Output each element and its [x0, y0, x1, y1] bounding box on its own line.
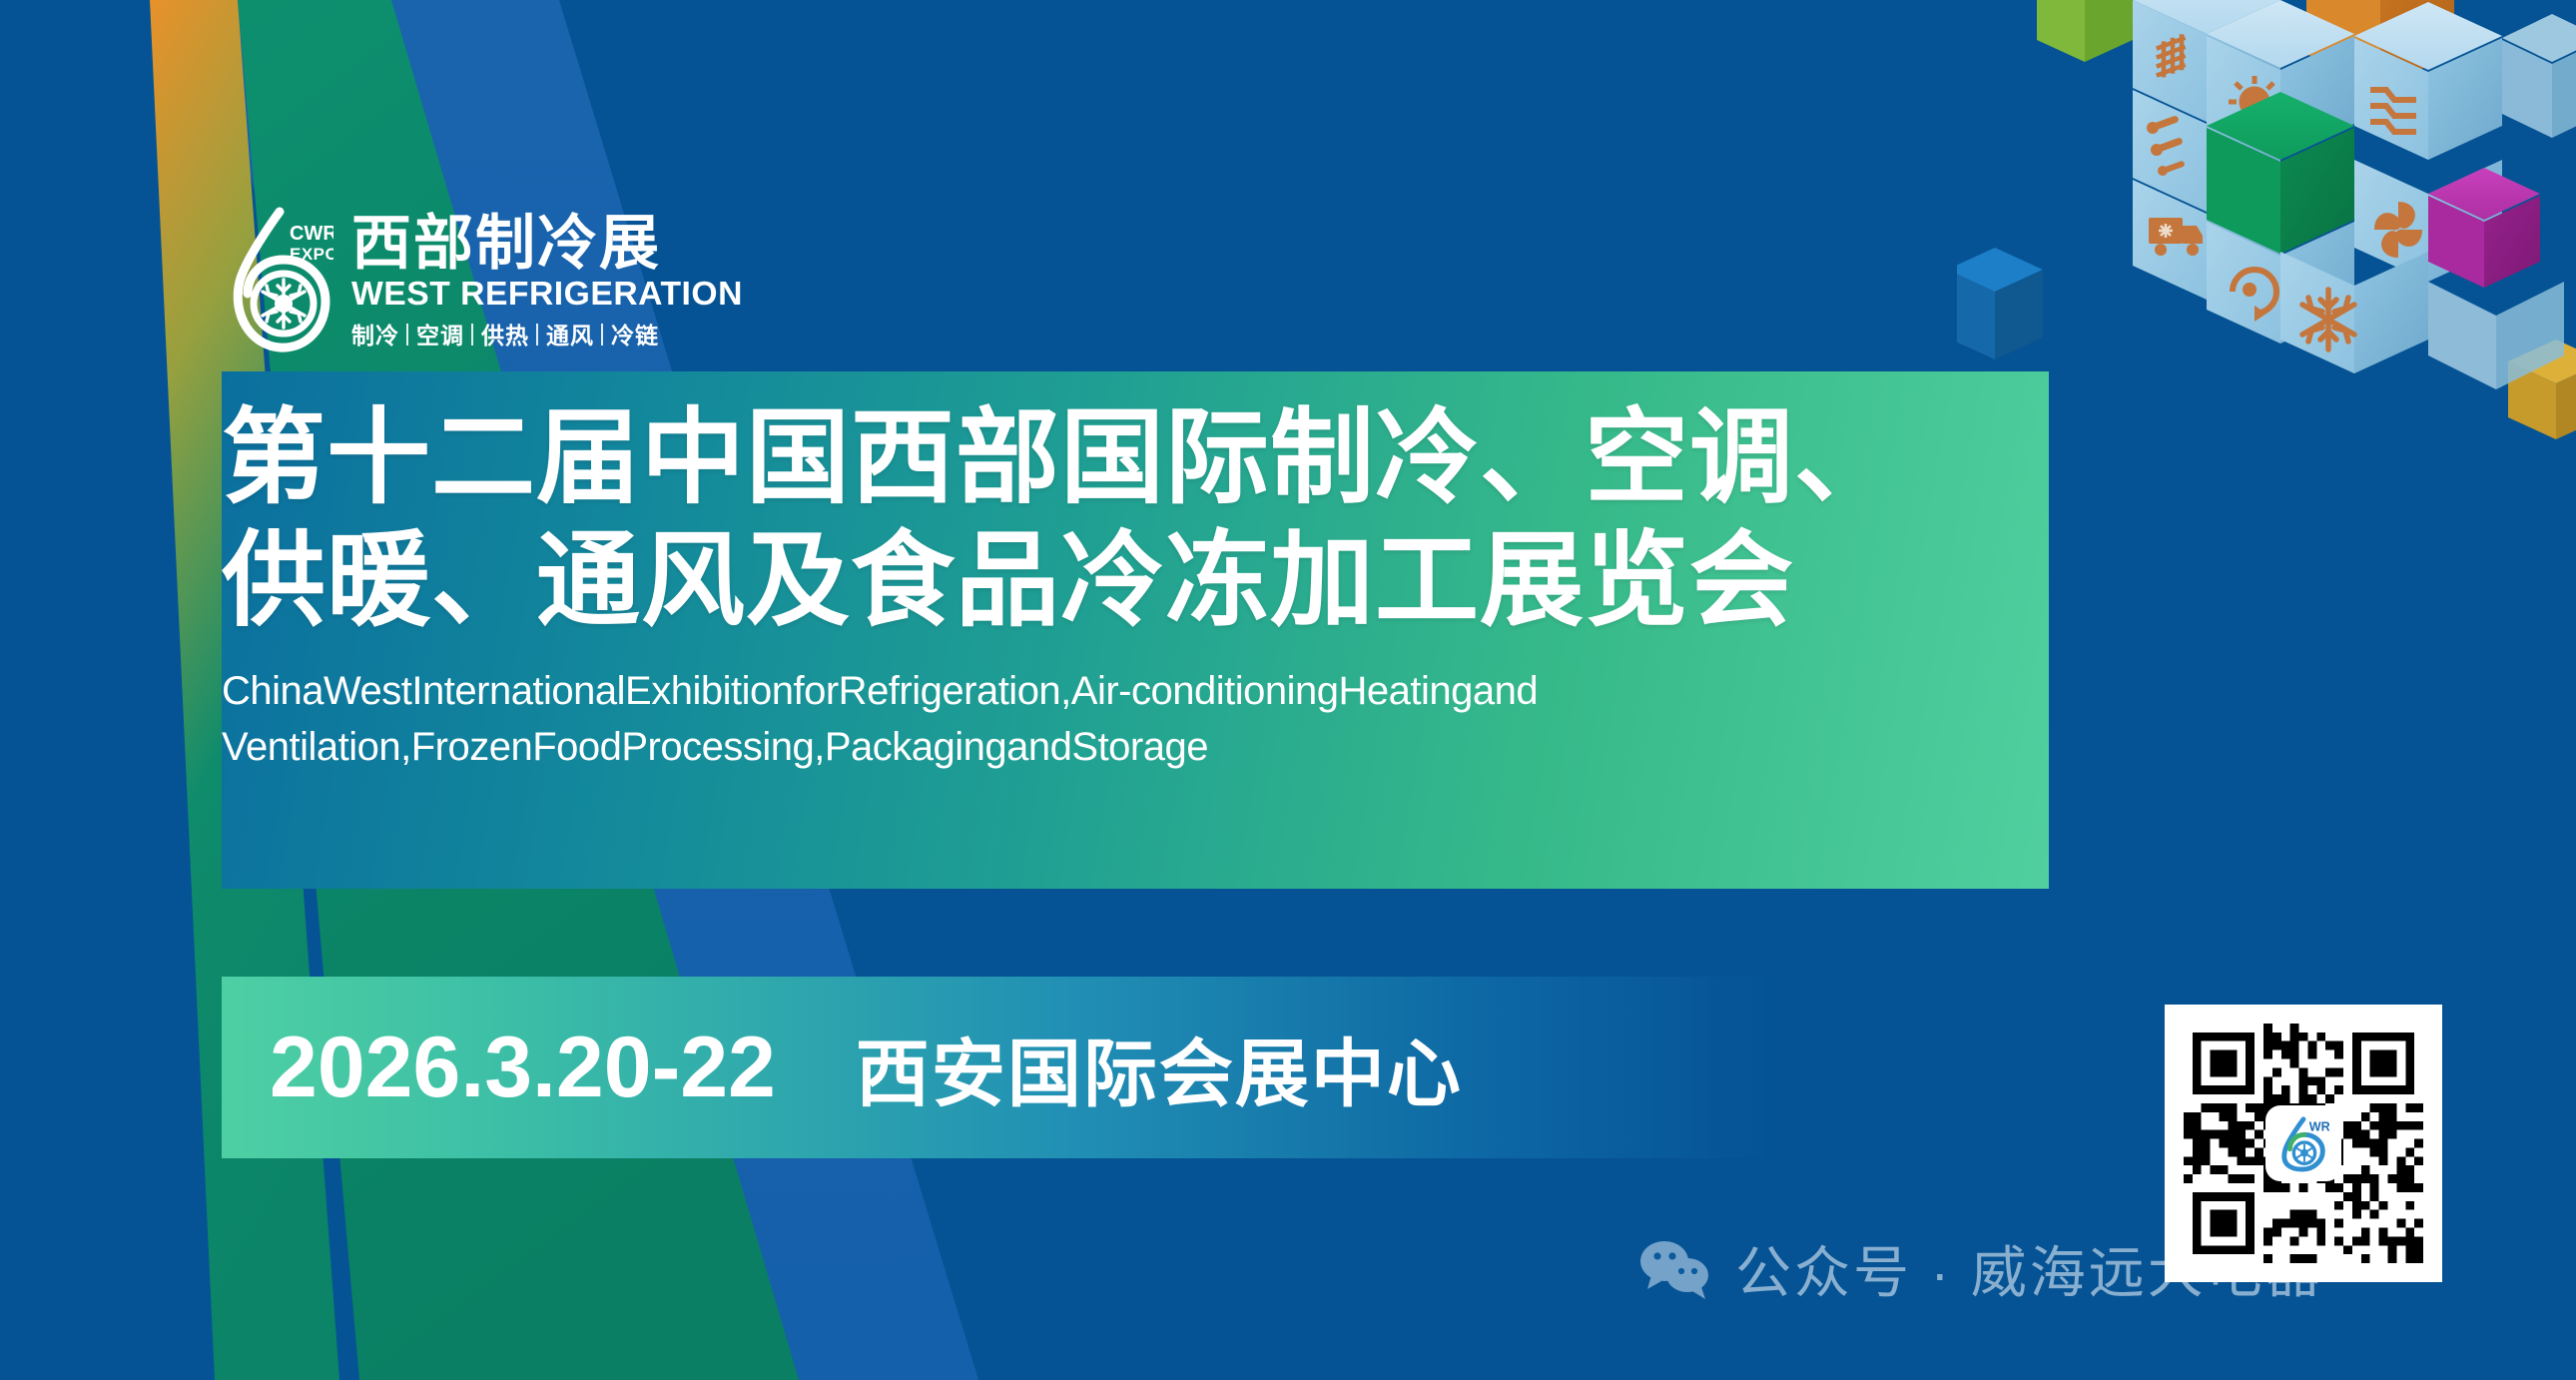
logo-tag-sep-1: |	[469, 320, 476, 346]
logo-tag-0: 制冷	[351, 317, 399, 350]
cube-blue-small	[1957, 248, 2043, 359]
cube-green-small	[2037, 0, 2133, 62]
title-line-2: 供暖、通风及食品冷冻加工展览会	[222, 520, 2059, 643]
wechat-official-account-qr-code[interactable]: WR	[2165, 1005, 2442, 1282]
logo-tag-4: 冷链	[611, 317, 659, 350]
poster-canvas: CWR EXPO 西部制冷展 WEST REFRIGERATION 制冷 | 空…	[0, 0, 2576, 1380]
wechat-icon	[1637, 1237, 1713, 1301]
logo-tag-sep-3: |	[599, 320, 606, 346]
event-venue: 西安国际会展中心	[856, 1015, 1463, 1121]
logo-tag-sep-2: |	[534, 320, 541, 346]
subtitle-line-1: ChinaWestInternationalExhibitionforRefri…	[222, 664, 2059, 719]
title-line-1: 第十二届中国西部国际制冷、空调、	[222, 397, 2059, 520]
logo-tag-list: 制冷 | 空调 | 供热 | 通风 | 冷链	[351, 317, 735, 350]
qr-center-logo: WR	[2268, 1108, 2338, 1178]
logo-tag-2: 供热	[481, 317, 529, 350]
logo-text-column: 西部制冷展 WEST REFRIGERATION 制冷 | 空调 | 供热 | …	[351, 213, 735, 349]
subtitle-block: ChinaWestInternationalExhibitionforRefri…	[222, 664, 2059, 774]
water-droplet-snowflake-logo-icon: CWR EXPO	[222, 206, 333, 357]
cube-pale-filler-1	[2502, 14, 2576, 138]
logo-tag-1: 空调	[416, 317, 464, 350]
qr-droplet-logo-icon: WR	[2274, 1114, 2332, 1172]
cwr-expo-badge: CWR EXPO	[290, 223, 333, 264]
logo-tag-sep-0: |	[404, 320, 411, 346]
event-date: 2026.3.20-22	[270, 1019, 776, 1117]
logo-name-cn: 西部制冷展	[351, 213, 735, 274]
logo-name-en: WEST REFRIGERATION	[351, 276, 743, 312]
subtitle-line-2: Ventilation,FrozenFoodProcessing,Packagi…	[222, 720, 2059, 775]
event-logo: CWR EXPO 西部制冷展 WEST REFRIGERATION 制冷 | 空…	[222, 206, 735, 357]
title-block: 第十二届中国西部国际制冷、空调、 供暖、通风及食品冷冻加工展览会 ChinaWe…	[222, 371, 2059, 889]
logo-tag-3: 通风	[546, 317, 594, 350]
qr-logo-text: WR	[2309, 1119, 2330, 1133]
svg-text:CWR: CWR	[290, 223, 333, 245]
date-venue-bar: 2026.3.20-22 西安国际会展中心	[222, 977, 1769, 1158]
svg-text:EXPO: EXPO	[290, 245, 333, 264]
